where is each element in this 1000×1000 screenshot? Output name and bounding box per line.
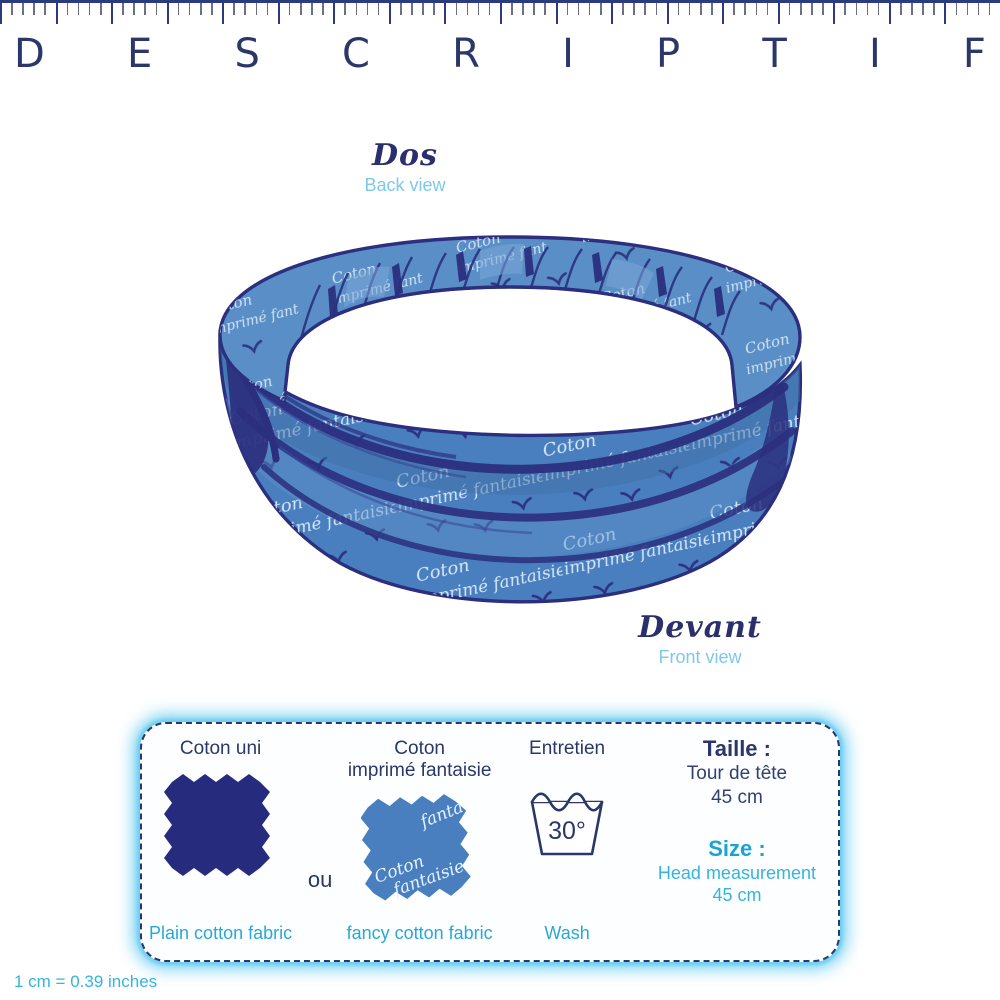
ruler-tick-minor bbox=[189, 3, 191, 15]
title-letter-5: I bbox=[562, 31, 574, 77]
size-cell: Taille : Tour de tête 45 cm Size : Head … bbox=[636, 724, 838, 960]
unit-conversion-note: 1 cm = 0.39 inches bbox=[14, 972, 157, 992]
ruler-tick-minor bbox=[11, 3, 13, 15]
ruler-tick-minor bbox=[178, 3, 180, 15]
ruler-tick-major bbox=[278, 3, 280, 24]
title-letter-3: C bbox=[342, 31, 370, 77]
title-letter-1: E bbox=[127, 31, 152, 77]
ruler-tick-minor bbox=[633, 3, 635, 15]
ruler-tick-minor bbox=[767, 3, 769, 15]
ruler-tick-minor bbox=[133, 3, 135, 15]
fancy-fabric-swatch: fanta Coton fantaisie bbox=[361, 794, 479, 917]
ruler-tick-major bbox=[944, 3, 946, 24]
or-text: ou bbox=[308, 867, 332, 893]
ruler-tick-minor bbox=[433, 3, 435, 15]
ruler-tick-minor bbox=[878, 3, 880, 15]
ruler-tick-minor bbox=[478, 3, 480, 15]
size-headmeasure-fr: Tour de tête bbox=[687, 762, 787, 786]
info-panel: Coton uni Plain cotton fabric ou Coton i… bbox=[140, 722, 840, 962]
ruler-tick-minor bbox=[622, 3, 624, 15]
ruler-tick-minor bbox=[122, 3, 124, 15]
ruler-tick-major bbox=[444, 3, 446, 24]
ruler-tick-minor bbox=[978, 3, 980, 15]
ruler-tick-minor bbox=[711, 3, 713, 15]
ruler-tick-major bbox=[56, 3, 58, 24]
ruler-tick-minor bbox=[989, 3, 991, 15]
ruler-tick-major bbox=[778, 3, 780, 24]
ruler-tick-minor bbox=[700, 3, 702, 15]
or-separator: ou bbox=[299, 781, 341, 903]
title-letter-7: T bbox=[762, 31, 786, 77]
label-front-view: Devant Front view bbox=[575, 612, 825, 671]
ruler-tick-major bbox=[111, 3, 113, 24]
care-label-fr: Entretien bbox=[529, 738, 605, 760]
ruler-tick-minor bbox=[811, 3, 813, 15]
ruler-tick-minor bbox=[367, 3, 369, 15]
label-back-view-en: Back view bbox=[300, 172, 510, 199]
ruler-tick-minor bbox=[422, 3, 424, 15]
ruler-tick-minor bbox=[89, 3, 91, 15]
ruler-tick-minor bbox=[467, 3, 469, 15]
ruler-tick-minor bbox=[644, 3, 646, 15]
size-headmeasure-en: Head measurement bbox=[658, 862, 816, 885]
ruler-tick-minor bbox=[411, 3, 413, 15]
ruler-tick-minor bbox=[489, 3, 491, 15]
ruler-tick-minor bbox=[922, 3, 924, 15]
fancy-fabric-label-en: fancy cotton fabric bbox=[341, 923, 498, 944]
ruler-tick-minor bbox=[344, 3, 346, 15]
ruler-tick-minor bbox=[756, 3, 758, 15]
size-value-en: 45 cm bbox=[712, 884, 761, 907]
label-back-view-fr: Dos bbox=[300, 140, 510, 172]
ruler-tick-minor bbox=[400, 3, 402, 15]
ruler-tick-major bbox=[722, 3, 724, 24]
ruler-tick-minor bbox=[533, 3, 535, 15]
care-label-en: Wash bbox=[498, 923, 636, 944]
size-title-en: Size : bbox=[708, 836, 765, 862]
ruler-tick-minor bbox=[689, 3, 691, 15]
ruler-tick-minor bbox=[233, 3, 235, 15]
ruler-tick-minor bbox=[567, 3, 569, 15]
ruler-tick-minor bbox=[44, 3, 46, 15]
ruler-tick-minor bbox=[300, 3, 302, 15]
ruler-tick-minor bbox=[211, 3, 213, 15]
title-letter-0: D bbox=[14, 31, 45, 77]
plain-fabric-label-fr: Coton uni bbox=[180, 738, 261, 760]
ruler-tick-minor bbox=[956, 3, 958, 15]
title-letter-9: F bbox=[963, 31, 986, 77]
ruler-tick-minor bbox=[33, 3, 35, 15]
ruler-tick-major bbox=[889, 3, 891, 24]
ruler-tick-minor bbox=[100, 3, 102, 15]
ruler-tick-minor bbox=[289, 3, 291, 15]
ruler-tick-minor bbox=[256, 3, 258, 15]
ruler-tick-minor bbox=[967, 3, 969, 15]
ruler-tick-major bbox=[500, 3, 502, 24]
ruler-tick-minor bbox=[733, 3, 735, 15]
title-letter-4: R bbox=[452, 31, 480, 77]
ruler-tick-minor bbox=[678, 3, 680, 15]
ruler-tick-minor bbox=[67, 3, 69, 15]
ruler-tick-major bbox=[389, 3, 391, 24]
ruler-tick-minor bbox=[378, 3, 380, 15]
ruler-tick-minor bbox=[200, 3, 202, 15]
ruler-tick-minor bbox=[78, 3, 80, 15]
title-letter-2: S bbox=[234, 31, 259, 77]
ruler-tick-minor bbox=[578, 3, 580, 15]
plain-fabric-label-en: Plain cotton fabric bbox=[142, 923, 299, 944]
ruler-tick-minor bbox=[844, 3, 846, 15]
ruler-tick-minor bbox=[600, 3, 602, 15]
ruler-tick-minor bbox=[156, 3, 158, 15]
ruler-tick-minor bbox=[267, 3, 269, 15]
ruler-tick-minor bbox=[456, 3, 458, 15]
ruler-tick-minor bbox=[322, 3, 324, 15]
ruler-tick-minor bbox=[589, 3, 591, 15]
plain-fabric-swatch bbox=[162, 772, 280, 895]
size-value-fr: 45 cm bbox=[711, 786, 763, 810]
ruler-tick-minor bbox=[144, 3, 146, 15]
ruler-tick-minor bbox=[822, 3, 824, 15]
care-cell: Entretien 30° Wash bbox=[498, 724, 636, 960]
ruler-tick-minor bbox=[789, 3, 791, 15]
size-title-fr: Taille : bbox=[703, 736, 771, 762]
ruler-tick-major bbox=[667, 3, 669, 24]
ruler-tick-minor bbox=[867, 3, 869, 15]
ruler-tick-minor bbox=[800, 3, 802, 15]
ruler-tick-minor bbox=[933, 3, 935, 15]
ruler-tick-minor bbox=[356, 3, 358, 15]
title-letter-6: P bbox=[656, 31, 680, 77]
ruler-tick-minor bbox=[656, 3, 658, 15]
label-back-view: Dos Back view bbox=[300, 140, 510, 199]
ruler-tick-major bbox=[611, 3, 613, 24]
wash-tub-icon: 30° bbox=[524, 786, 610, 865]
ruler-tick-minor bbox=[244, 3, 246, 15]
ruler-tick-major bbox=[167, 3, 169, 24]
title-letter-8: I bbox=[869, 31, 881, 77]
fancy-fabric-cell: Coton imprimé fantaisie fanta Coton fant… bbox=[341, 724, 498, 960]
ruler-tick-major bbox=[333, 3, 335, 24]
ruler-tick-minor bbox=[522, 3, 524, 15]
ruler-tick-minor bbox=[856, 3, 858, 15]
ruler-tick-major bbox=[0, 3, 2, 24]
ruler-tick-minor bbox=[911, 3, 913, 15]
fancy-fabric-label-fr-line2: imprimé fantaisie bbox=[348, 760, 492, 782]
ruler-tick-minor bbox=[22, 3, 24, 15]
plain-fabric-cell: Coton uni Plain cotton fabric bbox=[142, 724, 299, 960]
ruler-tick-minor bbox=[311, 3, 313, 15]
ruler-tick-minor bbox=[900, 3, 902, 15]
headband-illustration: Coton imprimé fantaisie Coton imprimé fa… bbox=[180, 215, 840, 615]
page-title: DESCRIPTIF bbox=[0, 26, 1000, 82]
ruler-tick-minor bbox=[544, 3, 546, 15]
ruler-tick-major bbox=[556, 3, 558, 24]
ruler-tick-minor bbox=[511, 3, 513, 15]
label-front-view-en: Front view bbox=[575, 644, 825, 671]
ruler bbox=[0, 0, 1000, 26]
wash-temperature: 30° bbox=[548, 817, 586, 845]
ruler-tick-major bbox=[222, 3, 224, 24]
ruler-tick-major bbox=[833, 3, 835, 24]
fancy-fabric-label-fr-line1: Coton bbox=[394, 738, 445, 760]
label-front-view-fr: Devant bbox=[575, 612, 825, 644]
ruler-tick-minor bbox=[744, 3, 746, 15]
